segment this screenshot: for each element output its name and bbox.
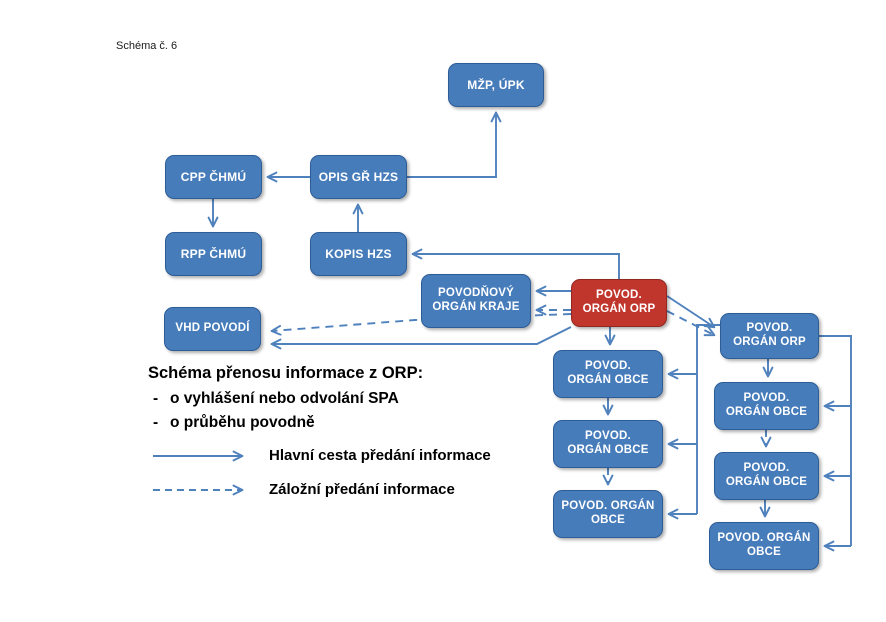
solid-arrow-icon <box>152 448 252 464</box>
node-label: POVOD.ORGÁN ORP <box>730 322 809 349</box>
node-label: CPP ČHMÚ <box>178 170 249 184</box>
node-label: RPP ČHMÚ <box>178 247 249 261</box>
node-mzp[interactable]: MŽP, ÚPK <box>448 63 544 107</box>
node-kraj[interactable]: POVODŇOVÝORGÁN KRAJE <box>421 274 531 328</box>
node-kopis[interactable]: KOPIS HZS <box>310 232 407 276</box>
node-vhd[interactable]: VHD POVODÍ <box>164 307 261 351</box>
edge-bus-right-trunk <box>819 336 851 546</box>
node-obce_r1[interactable]: POVOD.ORGÁN OBCE <box>714 382 819 430</box>
node-obce_c2[interactable]: POVOD.ORGÁN OBCE <box>553 420 663 468</box>
node-label: OPIS GŘ HZS <box>316 170 402 184</box>
legend-heading: Schéma přenosu informace z ORP: <box>148 364 423 383</box>
legend-bullet-1: - o vyhlášení nebo odvolání SPA <box>148 390 423 408</box>
node-cpp[interactable]: CPP ČHMÚ <box>165 155 262 199</box>
legend-bullet-text: o průběhu povodně <box>170 414 315 432</box>
legend-key-main-label: Hlavní cesta předání informace <box>269 447 491 464</box>
edge-orp-to-vhd <box>272 327 571 344</box>
node-opis[interactable]: OPIS GŘ HZS <box>310 155 407 199</box>
node-label: MŽP, ÚPK <box>464 78 527 92</box>
node-label: POVODŇOVÝORGÁN KRAJE <box>429 287 522 314</box>
legend-key-main-path: Hlavní cesta předání informace <box>152 447 491 464</box>
edge-opis-to-mzp <box>407 113 496 177</box>
node-obce_c3[interactable]: POVOD. ORGÁNOBCE <box>553 490 663 538</box>
node-label: POVOD. ORGÁNOBCE <box>714 532 813 559</box>
edge-orp-to-orp-right <box>667 296 714 327</box>
legend-bullet-marker: - <box>148 414 170 432</box>
node-label: VHD POVODÍ <box>172 322 252 336</box>
legend-key-backup-label: Záložní předání informace <box>269 481 455 498</box>
node-obce_r3[interactable]: POVOD. ORGÁNOBCE <box>709 522 819 570</box>
legend-bullet-text: o vyhlášení nebo odvolání SPA <box>170 390 399 408</box>
node-label: POVOD.ORGÁN ORP <box>580 289 659 316</box>
node-orp_red[interactable]: POVOD.ORGÁN ORP <box>571 279 667 327</box>
node-label: POVOD. ORGÁNOBCE <box>558 500 657 527</box>
legend: Schéma přenosu informace z ORP: - o vyhl… <box>148 364 423 438</box>
node-obce_r2[interactable]: POVOD.ORGÁN OBCE <box>714 452 819 500</box>
legend-key-backup-path: Záložní předání informace <box>152 481 455 498</box>
schema-number-label: Schéma č. 6 <box>116 40 177 52</box>
node-obce_c1[interactable]: POVOD.ORGÁN OBCE <box>553 350 663 398</box>
edge-orp-to-orp-right-backup <box>667 311 714 335</box>
dashed-arrow-icon <box>152 482 252 498</box>
node-orp_r[interactable]: POVOD.ORGÁN ORP <box>720 313 819 359</box>
node-label: KOPIS HZS <box>322 247 394 261</box>
node-label: POVOD.ORGÁN OBCE <box>723 392 810 419</box>
node-label: POVOD.ORGÁN OBCE <box>564 360 651 387</box>
legend-bullet-marker: - <box>148 390 170 408</box>
diagram-canvas: Schéma č. 6 <box>0 0 886 622</box>
node-label: POVOD.ORGÁN OBCE <box>723 462 810 489</box>
node-rpp[interactable]: RPP ČHMÚ <box>165 232 262 276</box>
node-label: POVOD.ORGÁN OBCE <box>564 430 651 457</box>
legend-bullet-2: - o průběhu povodně <box>148 414 423 432</box>
